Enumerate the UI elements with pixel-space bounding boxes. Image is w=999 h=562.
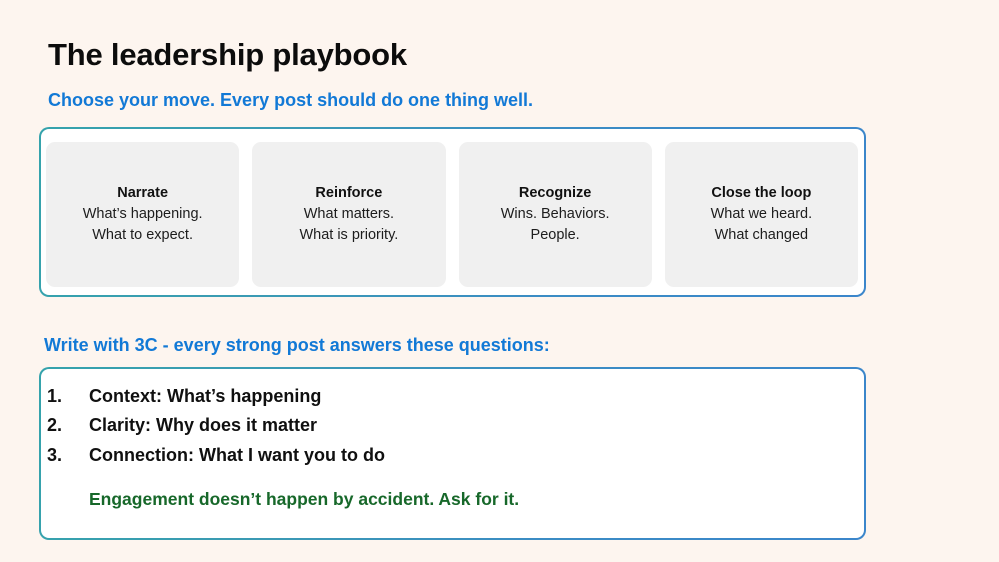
move-card-line-2: What changed xyxy=(715,225,809,246)
threec-panel: 1. Context: What’s happening 2. Clarity:… xyxy=(39,367,866,540)
threec-list: 1. Context: What’s happening 2. Clarity:… xyxy=(47,382,858,470)
threec-section-heading: Write with 3C - every strong post answer… xyxy=(44,335,550,357)
move-card-line-1: Wins. Behaviors. xyxy=(501,204,610,225)
closing-call-to-action: Engagement doesn’t happen by accident. A… xyxy=(89,489,519,510)
move-card-title: Recognize xyxy=(519,183,592,204)
move-card-line-2: What is priority. xyxy=(299,225,398,246)
move-card[interactable]: Narrate What’s happening. What to expect… xyxy=(46,142,239,287)
list-item-number: 3. xyxy=(47,441,89,470)
list-item-number: 2. xyxy=(47,411,89,440)
move-card[interactable]: Reinforce What matters. What is priority… xyxy=(252,142,445,287)
move-card-title: Narrate xyxy=(117,183,168,204)
list-item: 3. Connection: What I want you to do xyxy=(47,441,858,470)
move-card-line-1: What we heard. xyxy=(711,204,813,225)
list-item-label: Context: What’s happening xyxy=(89,382,858,411)
page-title: The leadership playbook xyxy=(48,38,407,72)
move-card-line-1: What matters. xyxy=(304,204,394,225)
list-item: 1. Context: What’s happening xyxy=(47,382,858,411)
move-card-title: Reinforce xyxy=(315,183,382,204)
move-card-line-2: What to expect. xyxy=(92,225,193,246)
move-card-line-2: People. xyxy=(531,225,580,246)
list-item-number: 1. xyxy=(47,382,89,411)
move-cards-row: Narrate What’s happening. What to expect… xyxy=(46,142,858,287)
move-card-line-1: What’s happening. xyxy=(83,204,203,225)
list-item-label: Connection: What I want you to do xyxy=(89,441,858,470)
slide-canvas: The leadership playbook Choose your move… xyxy=(0,0,999,562)
move-card-title: Close the loop xyxy=(711,183,811,204)
leadership-moves-panel: Narrate What’s happening. What to expect… xyxy=(39,127,866,297)
move-card[interactable]: Close the loop What we heard. What chang… xyxy=(665,142,858,287)
list-item: 2. Clarity: Why does it matter xyxy=(47,411,858,440)
move-card[interactable]: Recognize Wins. Behaviors. People. xyxy=(459,142,652,287)
page-subtitle: Choose your move. Every post should do o… xyxy=(48,90,533,112)
list-item-label: Clarity: Why does it matter xyxy=(89,411,858,440)
